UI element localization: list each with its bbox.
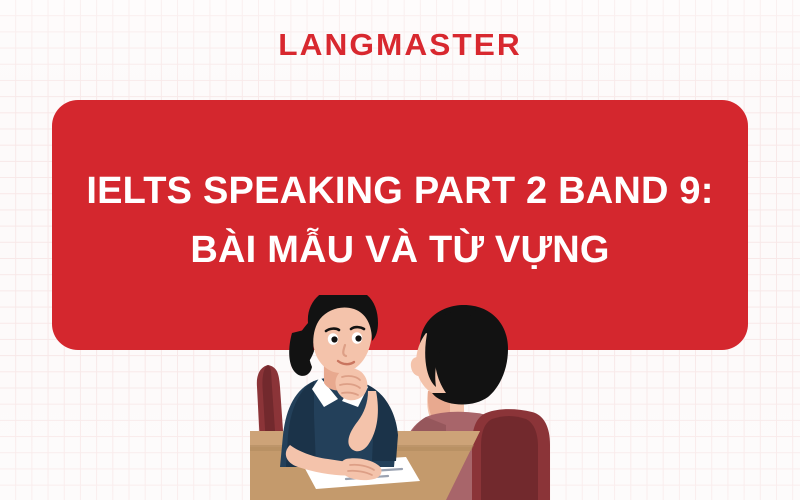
brand-logo: LANGMASTER <box>0 27 800 63</box>
woman-figure-layer <box>250 295 560 500</box>
illustration-svg-woman <box>250 295 560 500</box>
thumbnail-canvas: LANGMASTER IELTS SPEAKING PART 2 BAND 9:… <box>0 0 800 500</box>
title-text-block: IELTS SPEAKING PART 2 BAND 9: BÀI MẪU VÀ… <box>52 162 748 280</box>
woman-figure <box>280 295 398 480</box>
title-line-1: IELTS SPEAKING PART 2 BAND 9: <box>70 162 730 221</box>
title-line-2: BÀI MẪU VÀ TỪ VỰNG <box>70 221 730 280</box>
